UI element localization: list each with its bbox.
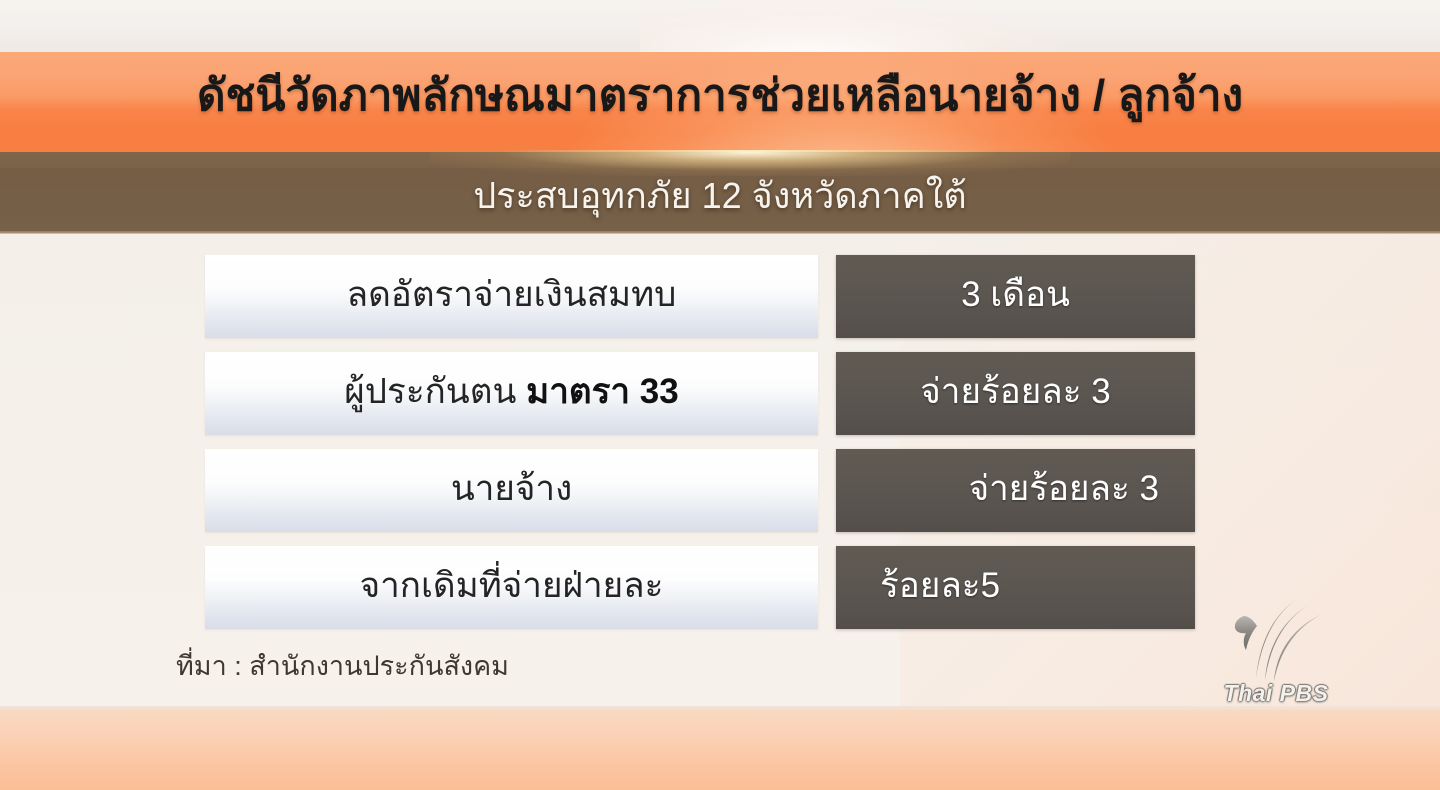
thaipbs-logo-text: Thai PBS [1196, 680, 1356, 707]
label-prefix: นายจ้าง [451, 469, 572, 508]
page-title: ดัชนีวัดภาพลักษณมาตราการช่วยเหลือนายจ้าง… [0, 66, 1440, 126]
measures-table: ลดอัตราจ่ายเงินสมทบ 3 เดือน ผู้ประกันตน … [205, 255, 1195, 630]
table-row-value-cell: จ่ายร้อยละ 3 [836, 449, 1195, 532]
table-row: นายจ้าง จ่ายร้อยละ 3 [205, 449, 1195, 532]
bottom-band-background [0, 710, 1440, 790]
table-row-value-cell: จ่ายร้อยละ 3 [836, 352, 1195, 435]
table-row: ลดอัตราจ่ายเงินสมทบ 3 เดือน [205, 255, 1195, 338]
top-strip-glow [640, 0, 1060, 52]
label-prefix: จากเดิมที่จ่ายฝ่ายละ [360, 566, 664, 605]
table-row-label-cell: ผู้ประกันตน มาตรา 33 [205, 352, 818, 435]
table-row-label-text: ผู้ประกันตน มาตรา 33 [344, 370, 678, 418]
label-prefix: ผู้ประกันตน [344, 372, 526, 411]
table-row-value-cell: 3 เดือน [836, 255, 1195, 338]
table-row-value-text: จ่ายร้อยละ 3 [920, 370, 1110, 418]
table-row-value-text: จ่ายร้อยละ 3 [969, 467, 1159, 515]
table-row-label-text: จากเดิมที่จ่ายฝ่ายละ [360, 564, 664, 612]
table-row: จากเดิมที่จ่ายฝ่ายละ ร้อยละ5 [205, 546, 1195, 629]
table-row-label-text: ลดอัตราจ่ายเงินสมทบ [347, 273, 677, 321]
source-credit: ที่มา : สำนักงานประกันสังคม [176, 648, 509, 684]
table-row-label-cell: นายจ้าง [205, 449, 818, 532]
label-prefix: ลดอัตราจ่ายเงินสมทบ [347, 275, 677, 314]
news-graphic-screen: ดัชนีวัดภาพลักษณมาตราการช่วยเหลือนายจ้าง… [0, 0, 1440, 790]
table-row-value-text: 3 เดือน [961, 273, 1070, 321]
table-row-label-cell: จากเดิมที่จ่ายฝ่ายละ [205, 546, 818, 629]
table-row: ผู้ประกันตน มาตรา 33 จ่ายร้อยละ 3 [205, 352, 1195, 435]
table-row-value-text: ร้อยละ5 [880, 564, 1000, 612]
table-row-label-text: นายจ้าง [451, 467, 572, 515]
table-row-value-cell: ร้อยละ5 [836, 546, 1195, 629]
table-row-label-cell: ลดอัตราจ่ายเงินสมทบ [205, 255, 818, 338]
page-subtitle: ประสบอุทกภัย 12 จังหวัดภาคใต้ [0, 172, 1440, 220]
thaipbs-logo: Thai PBS [1196, 596, 1356, 710]
thaipbs-bird-icon [1210, 596, 1340, 682]
label-emphasis: มาตรา 33 [526, 372, 679, 411]
